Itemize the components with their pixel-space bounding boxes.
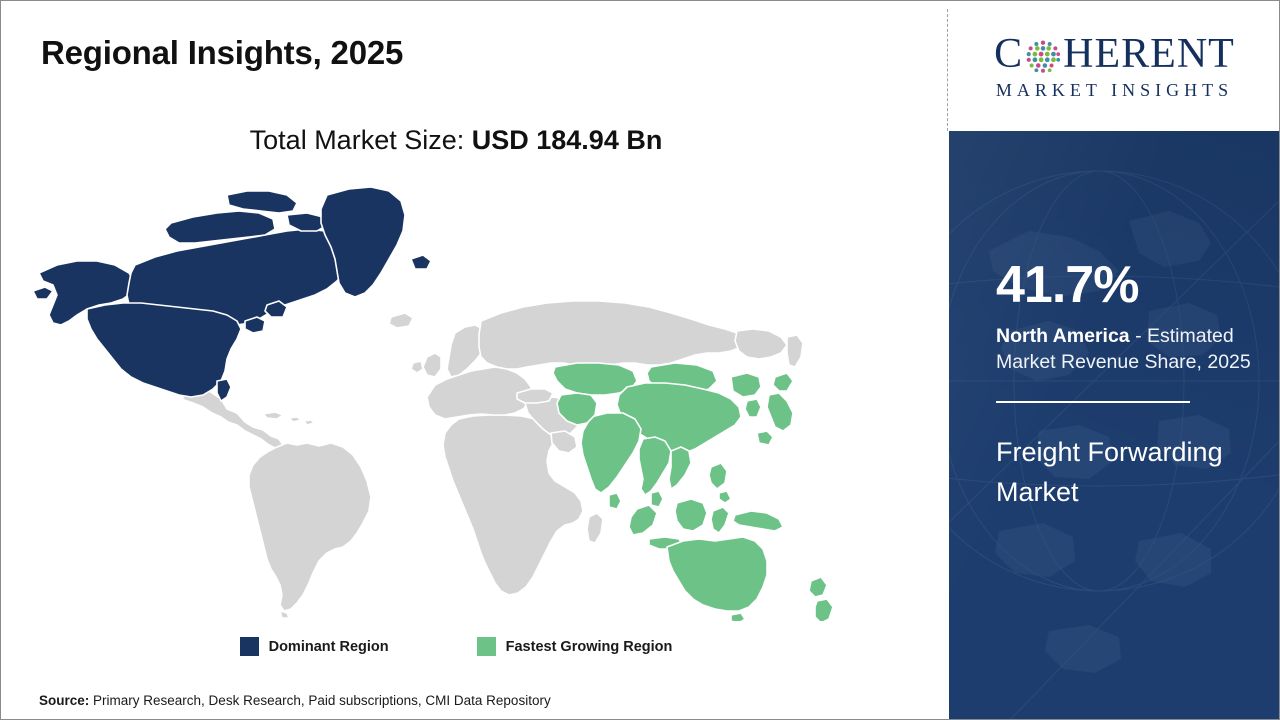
total-market-size: Total Market Size: USD 184.94 Bn bbox=[1, 125, 911, 156]
panel-divider-rule bbox=[996, 401, 1190, 403]
dotted-globe-icon bbox=[1024, 37, 1062, 75]
source-line: Source: Primary Research, Desk Research,… bbox=[39, 693, 551, 708]
source-text: Primary Research, Desk Research, Paid su… bbox=[93, 693, 551, 708]
logo-text-c: C bbox=[994, 33, 1023, 75]
legend-item-dominant: Dominant Region bbox=[240, 637, 389, 656]
legend-label-fastest-growing: Fastest Growing Region bbox=[506, 639, 673, 655]
market-size-value: USD 184.94 Bn bbox=[472, 125, 663, 155]
legend-swatch-fastest-growing bbox=[477, 637, 496, 656]
brand-logo: C bbox=[949, 1, 1280, 131]
stat-region-name: North America bbox=[996, 325, 1130, 347]
legend-swatch-dominant bbox=[240, 637, 259, 656]
stat-value: 41.7% bbox=[996, 259, 1264, 311]
world-map bbox=[31, 181, 891, 621]
map-region-dominant bbox=[33, 187, 431, 401]
vertical-dashed-divider bbox=[947, 9, 948, 131]
map-legend: Dominant Region Fastest Growing Region bbox=[1, 637, 911, 656]
market-name: Freight Forwarding Market bbox=[996, 433, 1264, 513]
market-size-label: Total Market Size: bbox=[250, 125, 465, 155]
legend-item-fastest-growing: Fastest Growing Region bbox=[477, 637, 673, 656]
logo-wordmark: C bbox=[994, 31, 1235, 77]
panel-content: 41.7% North America - Estimated Market R… bbox=[996, 259, 1264, 513]
logo-tagline: MARKET INSIGHTS bbox=[996, 80, 1233, 101]
infographic-page: Regional Insights, 2025 Total Market Siz… bbox=[0, 0, 1280, 720]
stat-description: North America - Estimated Market Revenue… bbox=[996, 323, 1264, 375]
left-content-area: Regional Insights, 2025 Total Market Siz… bbox=[1, 1, 948, 719]
logo-text-herent: HERENT bbox=[1063, 33, 1235, 75]
source-label: Source: bbox=[39, 693, 89, 708]
legend-label-dominant: Dominant Region bbox=[269, 639, 389, 655]
stat-panel: 41.7% North America - Estimated Market R… bbox=[949, 131, 1280, 719]
map-region-fastest-growing bbox=[553, 363, 833, 621]
page-title: Regional Insights, 2025 bbox=[41, 34, 403, 72]
